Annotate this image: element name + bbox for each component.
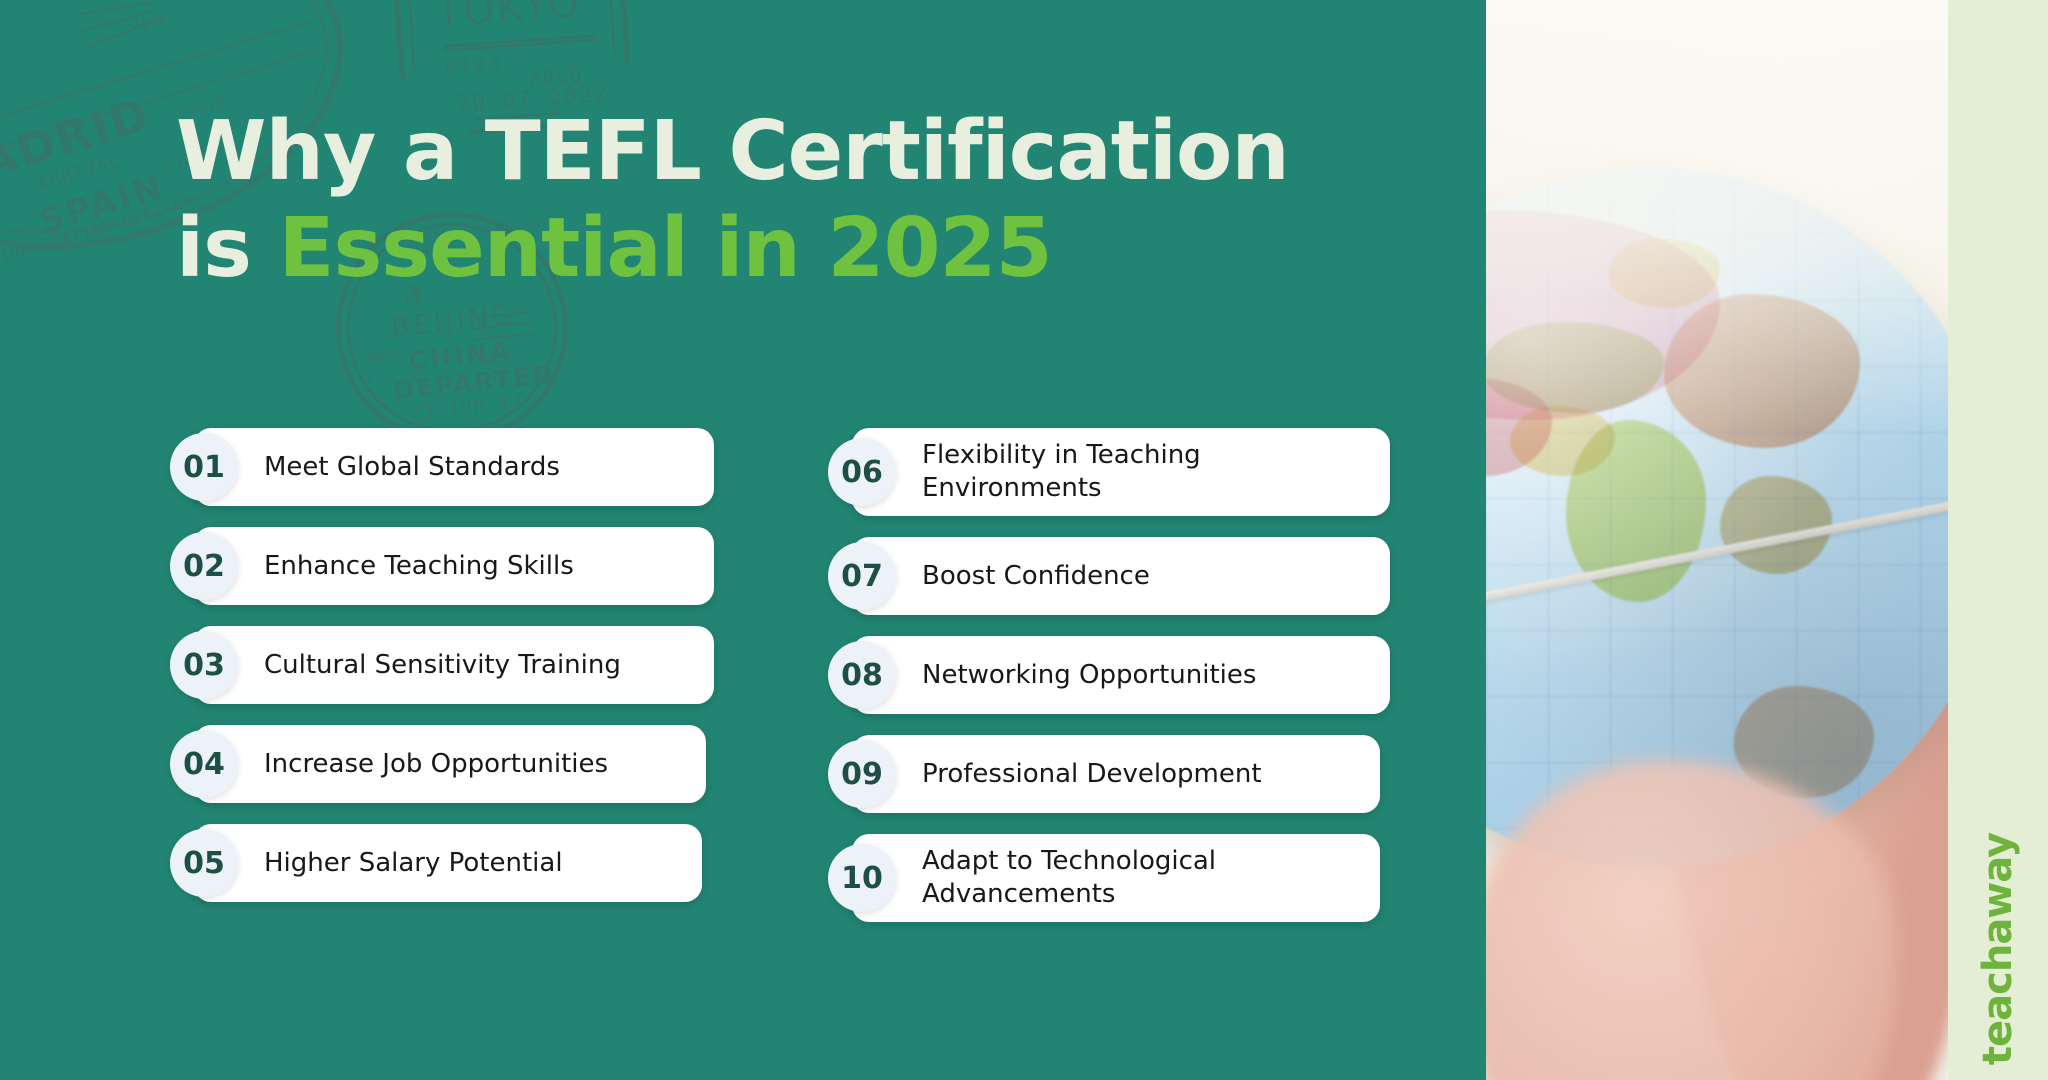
list-item[interactable]: 01 Meet Global Standards [170,428,730,506]
stamp-code-alpha: ABCD [529,64,584,90]
stamp-date: 23 JUN 17 [409,390,526,423]
list-item-number-badge: 02 [170,532,238,600]
page-title: Why a TEFL Certification is Essential in… [176,104,1336,298]
list-item[interactable]: 04 Increase Job Opportunities [170,725,730,803]
benefits-column-right: 06 Flexibility in Teaching Environments … [828,428,1388,943]
stamp-code-numeric: 0123 [444,53,503,79]
list-item-number-badge: 08 [828,641,896,709]
title-text: Why a TEFL Certification is Essential in… [176,104,1336,298]
list-item-number-badge: 01 [170,433,238,501]
stamp-city-label: TOKYO [435,0,582,36]
stamp-city-label: MADRID [0,87,157,204]
list-item-number-badge: 06 [828,438,896,506]
stamp-stars-right: * * * [489,367,548,389]
slide-root: ✈ MADRID ARRIVAL SPAIN IMMIGRATION OFFIC… [0,0,2048,1080]
globe-shading [1486,168,1948,868]
stamp-city-label: BEIJING [390,298,518,344]
stamp-code-left: AM23 [366,348,401,367]
stamp-country-label: CHINA [407,336,513,376]
title-line-2-prefix: is [176,201,278,296]
title-line-2-accent: Essential in 2025 [278,201,1051,296]
list-item-label: Cultural Sensitivity Training [264,649,639,682]
stamp-status-label: DEPARTED [392,359,556,405]
list-item[interactable]: 09 Professional Development [828,735,1388,813]
logo-text: teachaway [1975,833,2021,1065]
list-item-number-badge: 03 [170,631,238,699]
list-item[interactable]: 08 Networking Opportunities [828,636,1388,714]
list-item-label: Flexibility in Teaching Environments [922,439,1352,505]
list-item-label: Adapt to Technological Advancements [922,845,1352,911]
benefits-list: 01 Meet Global Standards 02 Enhance Teac… [170,428,1410,943]
stamp-rays [78,0,176,56]
globe-image [1486,168,1948,868]
globe-photo [1486,0,1948,1080]
list-item-label: Networking Opportunities [922,659,1274,692]
title-line-1: Why a TEFL Certification [176,104,1289,199]
list-item-label: Increase Job Opportunities [264,748,626,781]
teachaway-logo[interactable]: teachaway [1975,833,2021,1065]
stamp-country-label: SPAIN [34,166,169,242]
brand-sidebar: teachaway [1948,0,2048,1080]
list-item-number-badge: 04 [170,730,238,798]
list-item-label: Meet Global Standards [264,451,578,484]
list-item-number-badge: 09 [828,740,896,808]
list-item-number-badge: 05 [170,829,238,897]
list-item-label: Enhance Teaching Skills [264,550,592,583]
stamp-code-right: AMC3 [478,350,513,369]
list-item-label: Boost Confidence [922,560,1168,593]
list-item-label: Professional Development [922,758,1280,791]
list-item[interactable]: 06 Flexibility in Teaching Environments [828,428,1388,516]
list-item-number-badge: 10 [828,844,896,912]
stamp-rule [443,34,596,52]
list-item[interactable]: 03 Cultural Sensitivity Training [170,626,730,704]
stamp-officer-label: IMMIGRATION OFFICER [0,191,197,268]
list-item-label: Higher Salary Potential [264,847,581,880]
stamp-stars-left: * * * [364,371,423,393]
list-item[interactable]: 10 Adapt to Technological Advancements [828,834,1388,922]
list-item[interactable]: 05 Higher Salary Potential [170,824,730,902]
list-item[interactable]: 07 Boost Confidence [828,537,1388,615]
benefits-column-left: 01 Meet Global Standards 02 Enhance Teac… [170,428,730,943]
stamp-arrival-label: ARRIVAL [36,150,124,194]
list-item[interactable]: 02 Enhance Teaching Skills [170,527,730,605]
stamp-speed-lines [469,310,542,351]
list-item-number-badge: 07 [828,542,896,610]
stamp-visa-label: VISA [129,10,170,36]
airplane-icon: ✈ [0,23,12,93]
